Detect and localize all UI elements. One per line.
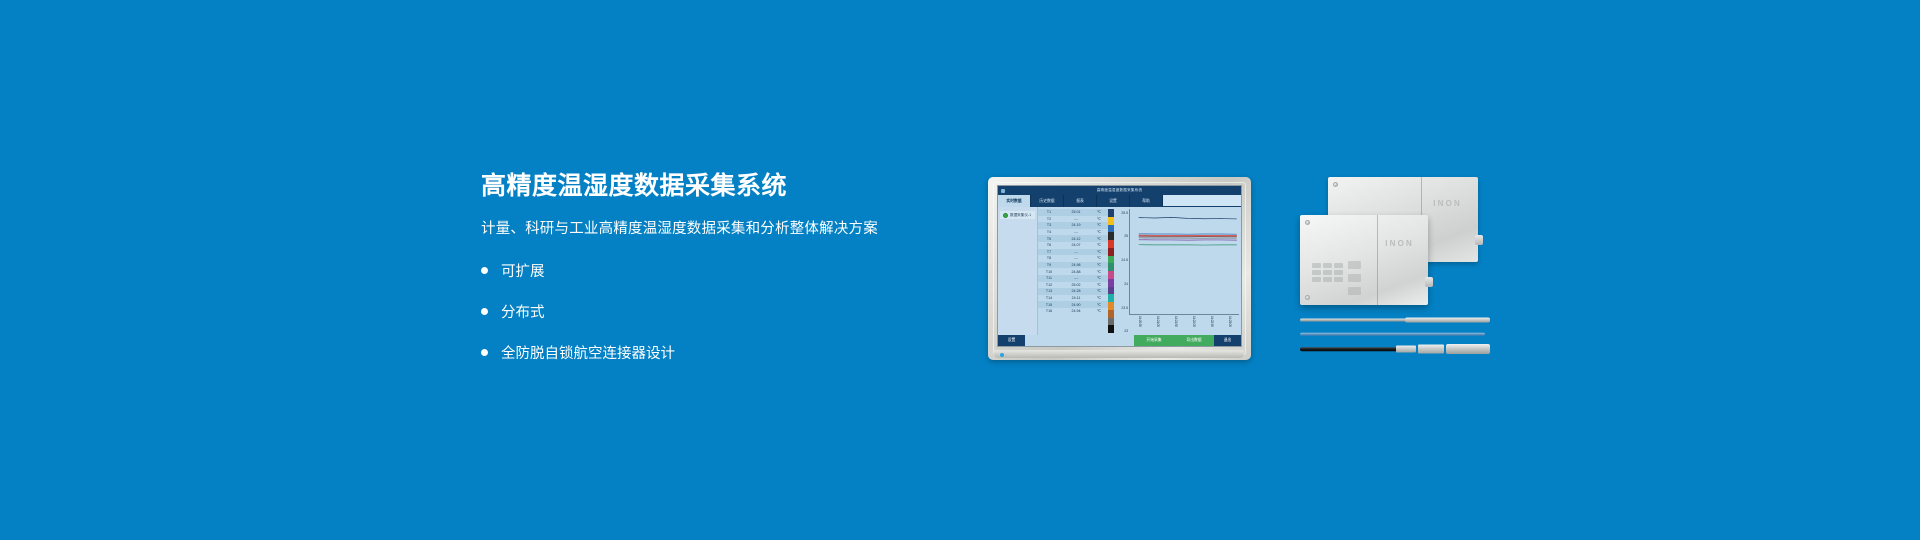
- table-row[interactable]: T12 25.02 ℃: [1038, 282, 1108, 289]
- settings-button[interactable]: 设置: [998, 335, 1025, 346]
- probe-sheath: [1405, 318, 1490, 323]
- list-item: 全防脱自锁航空连接器设计: [481, 342, 951, 363]
- channel-name: T7: [1038, 250, 1060, 254]
- channel-value: 24.11: [1060, 296, 1092, 300]
- channel-unit: ℃: [1092, 256, 1106, 260]
- channel-value: ---: [1060, 256, 1092, 260]
- chart-plot-area: [1129, 209, 1239, 315]
- table-row[interactable]: T9 24.98 ℃: [1038, 262, 1108, 269]
- x-axis-tick-label: 14:22:05: [1192, 316, 1196, 327]
- channel-name: T5: [1038, 237, 1060, 241]
- panel-pc-monitor: 高精度温湿度数据采集系统 实时数据 历史数据 报表 设置 帮助 数据采集仪-1: [988, 177, 1251, 360]
- y-axis-tick-label: 24.5: [1121, 258, 1128, 262]
- channel-name: T12: [1038, 283, 1060, 287]
- screw-icon: [1333, 182, 1338, 187]
- aviation-connector-male: [1396, 346, 1416, 353]
- channel-name: T9: [1038, 263, 1060, 267]
- device-name-label: 数据采集仪-1: [1010, 213, 1031, 218]
- feature-list: 可扩展 分布式 全防脱自锁航空连接器设计: [481, 260, 951, 363]
- bullet-dot-icon: [481, 267, 488, 274]
- table-row[interactable]: T2 --- ℃: [1038, 216, 1108, 223]
- tab-settings[interactable]: 设置: [1097, 195, 1130, 207]
- blue-cable-probe: [1300, 333, 1485, 336]
- y-axis-tick-label: 25.5: [1121, 211, 1128, 215]
- data-logger-enclosure-front: INON: [1300, 215, 1428, 305]
- channel-unit: ℃: [1092, 250, 1106, 254]
- y-axis-tick-label: 24: [1124, 282, 1128, 286]
- channel-value: 24.07: [1060, 243, 1092, 247]
- x-axis-tick-label: 14:22:35: [1210, 316, 1214, 327]
- realtime-chart: 25.52524.52423.523 14:20:3514:21:0514:21…: [1114, 207, 1241, 335]
- table-row[interactable]: T10 24.88 ℃: [1038, 268, 1108, 275]
- table-row[interactable]: T8 --- ℃: [1038, 255, 1108, 262]
- monitor-bezel: 高精度温湿度数据采集系统 实时数据 历史数据 报表 设置 帮助 数据采集仪-1: [988, 177, 1251, 360]
- brand-label: INON: [1385, 239, 1414, 248]
- tab-help[interactable]: 帮助: [1130, 195, 1163, 207]
- channel-name: T14: [1038, 296, 1060, 300]
- y-axis-tick-label: 25: [1124, 234, 1128, 238]
- device-tree-panel: 数据采集仪-1: [998, 207, 1038, 335]
- channel-value: ---: [1060, 276, 1092, 280]
- table-row[interactable]: T14 24.11 ℃: [1038, 295, 1108, 302]
- table-row[interactable]: T1 25.01 ℃: [1038, 209, 1108, 216]
- monitor-base: [994, 350, 1244, 358]
- channel-unit: ℃: [1092, 270, 1106, 274]
- tab-bar-filler: [1163, 195, 1241, 207]
- aviation-connector-shell: [1418, 345, 1444, 354]
- tab-history-data[interactable]: 历史数据: [1031, 195, 1064, 207]
- channel-value: 24.90: [1060, 303, 1092, 307]
- channel-unit: ℃: [1092, 263, 1106, 267]
- channel-value: 25.01: [1060, 210, 1092, 214]
- feature-label: 全防脱自锁航空连接器设计: [501, 342, 675, 363]
- channel-value: 24.28: [1060, 289, 1092, 293]
- table-row[interactable]: T11 --- ℃: [1038, 275, 1108, 282]
- page-subtitle: 计量、科研与工业高精度温湿度数据采集和分析整体解决方案: [481, 217, 951, 238]
- start-acquisition-button[interactable]: 开始采集: [1134, 335, 1174, 346]
- feature-label: 可扩展: [501, 260, 545, 281]
- enclosure-seam: [1377, 215, 1378, 305]
- app-footer-bar: 设置 开始采集 导出数据 退出: [998, 335, 1241, 346]
- list-item: 分布式: [481, 301, 951, 322]
- channel-unit: ℃: [1092, 283, 1106, 287]
- channel-unit: ℃: [1092, 289, 1106, 293]
- terminal-block-graphic: [1312, 263, 1343, 282]
- channel-name: T11: [1038, 276, 1060, 280]
- monitor-screen: 高精度温湿度数据采集系统 实时数据 历史数据 报表 设置 帮助 数据采集仪-1: [997, 185, 1242, 347]
- channel-unit: ℃: [1092, 296, 1106, 300]
- channel-unit: ℃: [1092, 309, 1106, 313]
- x-axis-tick-label: 14:21:35: [1174, 316, 1178, 327]
- window-title: 高精度温湿度数据采集系统: [998, 186, 1241, 195]
- chart-series-line: [1139, 217, 1237, 219]
- channel-unit: ℃: [1092, 276, 1106, 280]
- export-data-button[interactable]: 导出数据: [1174, 335, 1214, 346]
- power-led-icon: [1000, 353, 1004, 357]
- channel-value: 24.94: [1060, 309, 1092, 313]
- table-row[interactable]: T5 24.12 ℃: [1038, 235, 1108, 242]
- stainless-probe-rod: [1300, 319, 1408, 322]
- table-row[interactable]: T6 24.07 ℃: [1038, 242, 1108, 249]
- x-axis-tick-label: 14:23:05: [1228, 316, 1232, 327]
- channel-name: T10: [1038, 270, 1060, 274]
- channel-value: 24.19: [1060, 223, 1092, 227]
- table-row[interactable]: T3 24.19 ℃: [1038, 222, 1108, 229]
- tab-report[interactable]: 报表: [1064, 195, 1097, 207]
- channel-name: T16: [1038, 309, 1060, 313]
- port-group-graphic: [1348, 261, 1361, 295]
- aviation-connector: [1475, 235, 1483, 245]
- channel-name: T2: [1038, 217, 1060, 221]
- chart-series-svg: [1130, 209, 1239, 314]
- table-row[interactable]: T16 24.94 ℃: [1038, 308, 1108, 315]
- list-item: [1300, 345, 1490, 353]
- channel-unit: ℃: [1092, 237, 1106, 241]
- hardware-group: INON INON: [1300, 177, 1490, 367]
- chart-plot-wrapper: 14:20:3514:21:0514:21:3514:22:0514:22:35…: [1129, 209, 1239, 335]
- screw-icon: [1305, 295, 1310, 300]
- channel-value: ---: [1060, 230, 1092, 234]
- table-row[interactable]: T4 --- ℃: [1038, 229, 1108, 236]
- device-tree-item[interactable]: 数据采集仪-1: [1000, 211, 1035, 219]
- table-row[interactable]: T15 24.90 ℃: [1038, 301, 1108, 308]
- table-row[interactable]: T7 --- ℃: [1038, 249, 1108, 256]
- channel-name: T3: [1038, 223, 1060, 227]
- table-row[interactable]: T13 24.28 ℃: [1038, 288, 1108, 295]
- probe-housing: [1446, 344, 1490, 354]
- chart-x-axis: 14:20:3514:21:0514:21:3514:22:0514:22:35…: [1129, 315, 1239, 335]
- channel-value: 24.88: [1060, 270, 1092, 274]
- channel-name: T8: [1038, 256, 1060, 260]
- channel-name: T13: [1038, 289, 1060, 293]
- x-axis-tick-label: 14:21:05: [1156, 316, 1160, 327]
- screw-icon: [1305, 220, 1310, 225]
- app-titlebar: 高精度温湿度数据采集系统: [998, 186, 1241, 195]
- list-item: 可扩展: [481, 260, 951, 281]
- bullet-dot-icon: [481, 349, 488, 356]
- chart-y-axis: 25.52524.52423.523: [1115, 209, 1129, 335]
- tab-bar: 实时数据 历史数据 报表 设置 帮助: [998, 195, 1241, 207]
- channel-value: ---: [1060, 250, 1092, 254]
- channel-value: 24.12: [1060, 237, 1092, 241]
- channel-value: 25.02: [1060, 283, 1092, 287]
- brand-label: INON: [1433, 199, 1462, 208]
- channel-name: T4: [1038, 230, 1060, 234]
- aviation-connector: [1425, 277, 1433, 287]
- app-body: 数据采集仪-1 T1 25.01 ℃ T2 --- ℃: [998, 207, 1241, 335]
- x-axis-tick-label: 14:20:35: [1138, 316, 1142, 327]
- bullet-dot-icon: [481, 308, 488, 315]
- tab-realtime-data[interactable]: 实时数据: [998, 195, 1031, 207]
- feature-label: 分布式: [501, 301, 545, 322]
- channel-name: T6: [1038, 243, 1060, 247]
- channel-name: T15: [1038, 303, 1060, 307]
- channel-unit: ℃: [1092, 223, 1106, 227]
- channel-table: T1 25.01 ℃ T2 --- ℃ T3 24.19 ℃: [1038, 207, 1108, 335]
- hero-text-block: 高精度温湿度数据采集系统 计量、科研与工业高精度温湿度数据采集和分析整体解决方案…: [481, 173, 951, 383]
- y-axis-tick-label: 23: [1124, 329, 1128, 333]
- exit-button[interactable]: 退出: [1214, 335, 1241, 346]
- list-item: [1300, 317, 1490, 323]
- list-item: [1300, 332, 1485, 336]
- channel-unit: ℃: [1092, 243, 1106, 247]
- channel-unit: ℃: [1092, 230, 1106, 234]
- status-online-icon: [1003, 213, 1008, 218]
- channel-unit: ℃: [1092, 210, 1106, 214]
- channel-unit: ℃: [1092, 303, 1106, 307]
- channel-value: 24.98: [1060, 263, 1092, 267]
- channel-name: T1: [1038, 210, 1060, 214]
- black-cable: [1300, 347, 1400, 351]
- footer-button-group: 开始采集 导出数据 退出: [1134, 335, 1241, 346]
- channel-unit: ℃: [1092, 217, 1106, 221]
- channel-value: ---: [1060, 217, 1092, 221]
- y-axis-tick-label: 23.5: [1121, 306, 1128, 310]
- page-title: 高精度温湿度数据采集系统: [481, 173, 951, 201]
